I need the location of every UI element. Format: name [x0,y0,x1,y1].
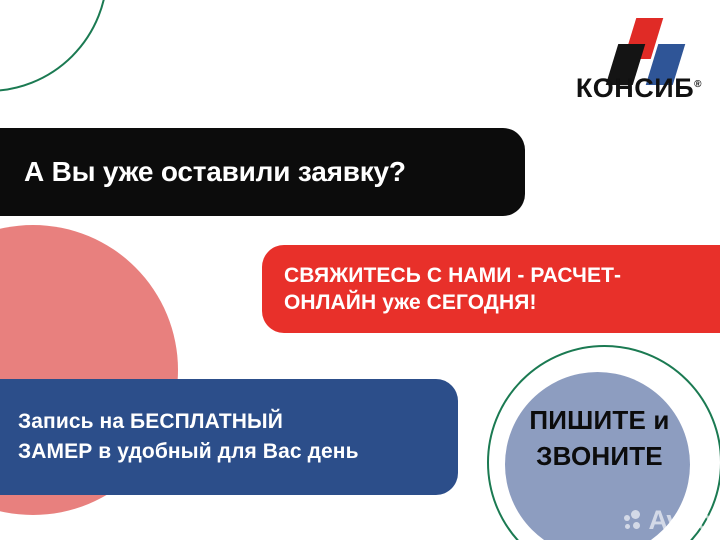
contact-text: СВЯЖИТЕСЬ С НАМИ - РАСЧЕТ- ОНЛАЙН уже СЕ… [284,262,621,316]
contact-text-line-2: ОНЛАЙН уже СЕГОДНЯ! [284,289,621,316]
measurement-text-line-2: ЗАМЕР в удобный для Вас день [18,437,359,467]
konsib-logo: КОНСИБ® [564,18,704,104]
write-and-call-cta: ПИШИТЕ и ЗВОНИТЕ [497,402,702,474]
cta-line-2: ЗВОНИТЕ [497,438,702,474]
measurement-text: Запись на БЕСПЛАТНЫЙ ЗАМЕР в удобный для… [18,407,359,467]
contact-text-already: уже [376,291,426,314]
avito-watermark-label: Avito [649,507,713,534]
decorative-green-ring-top-left [0,0,108,92]
headline-banner: А Вы уже оставили заявку? [0,128,525,216]
contact-text-today: СЕГОДНЯ! [427,291,537,314]
logo-wordmark: КОНСИБ® [564,70,704,103]
contact-text-line-1: СВЯЖИТЕСЬ С НАМИ - РАСЧЕТ- [284,262,621,289]
headline-text: А Вы уже оставили заявку? [24,156,406,188]
logo-mark-icon [564,18,704,70]
cta-line-1: ПИШИТЕ и [497,402,702,438]
measurement-text-line-1: Запись на БЕСПЛАТНЫЙ [18,407,359,437]
logo-wordmark-text: КОНСИБ [576,73,694,103]
registered-trademark-icon: ® [694,79,702,90]
avito-dots-icon [624,510,646,532]
contact-text-online: ОНЛАЙН [284,291,376,314]
free-measurement-banner: Запись на БЕСПЛАТНЫЙ ЗАМЕР в удобный для… [0,379,458,495]
contact-banner: СВЯЖИТЕСЬ С НАМИ - РАСЧЕТ- ОНЛАЙН уже СЕ… [262,245,720,333]
avito-watermark: Avito [624,507,713,534]
promo-banner-image: КОНСИБ® А Вы уже оставили заявку? СВЯЖИТ… [0,0,720,540]
